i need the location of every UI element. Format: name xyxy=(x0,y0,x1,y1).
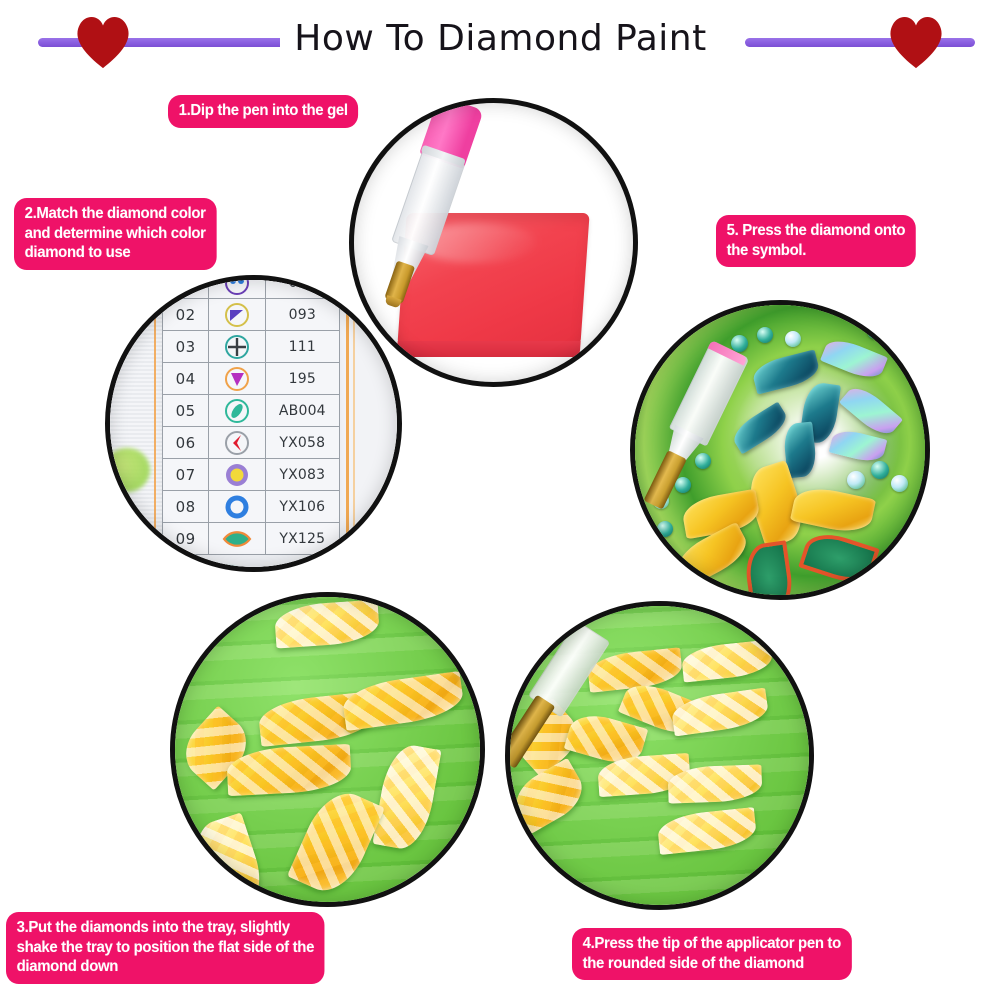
leaf-symbol xyxy=(209,524,264,554)
chart-code: YX083 xyxy=(265,459,339,491)
chart-code: YX058 xyxy=(265,427,339,459)
table-row: 09 YX125 xyxy=(163,523,340,555)
ring-symbol xyxy=(209,492,264,522)
page-title: How To Diamond Paint xyxy=(0,18,1001,59)
round-gem xyxy=(891,475,908,492)
chart-number: 05 xyxy=(163,395,209,427)
chart-number: 08 xyxy=(163,491,209,523)
step-5-caption-line-1: 5. Press the diamond onto xyxy=(727,221,906,241)
step-2-caption-line-2: and determine which color xyxy=(25,224,206,244)
step-4-caption-line-2: the rounded side of the diamond xyxy=(583,954,841,974)
table-row: 06 YX058 xyxy=(163,427,340,459)
table-row: 05 AB004 xyxy=(163,395,340,427)
chart-margin-line xyxy=(353,275,355,572)
chart-margin-line xyxy=(154,275,156,572)
chart-code: 195 xyxy=(265,363,339,395)
color-chart-table: 01 028 02 093 xyxy=(162,275,340,555)
color-chart-scene: 01 028 02 093 xyxy=(110,280,397,567)
filled-circle-symbol xyxy=(209,460,264,490)
chart-number: 06 xyxy=(163,427,209,459)
triangle-symbol-cell xyxy=(209,299,265,331)
round-gem xyxy=(785,331,801,347)
slash-oval-symbol xyxy=(209,396,264,426)
slash-oval-symbol-cell xyxy=(209,395,265,427)
arrow-left-symbol-cell xyxy=(209,427,265,459)
round-gem xyxy=(871,461,889,479)
step-5-photo xyxy=(630,300,930,600)
step-3-caption: 3.Put the diamonds into the tray, slight… xyxy=(6,912,325,984)
chart-code: YX125 xyxy=(265,523,339,555)
plus-symbol-cell xyxy=(209,331,265,363)
plus-symbol xyxy=(209,332,264,362)
step-3-caption-line-3: diamond down xyxy=(17,957,314,977)
triangle-down-symbol-cell xyxy=(209,363,265,395)
step-4-caption-line-1: 4.Press the tip of the applicator pen to xyxy=(583,934,841,954)
chart-number: 09 xyxy=(163,523,209,555)
table-row: 02 093 xyxy=(163,299,340,331)
page-title-text: How To Diamond Paint xyxy=(280,18,720,59)
chart-number: 04 xyxy=(163,363,209,395)
step-3-caption-line-2: shake the tray to position the flat side… xyxy=(17,938,314,958)
table-row: 01 028 xyxy=(163,275,340,299)
dots-symbol-cell xyxy=(209,275,265,299)
ring-symbol-cell xyxy=(209,491,265,523)
header: How To Diamond Paint xyxy=(0,0,1001,80)
step-3-caption-line-1: 3.Put the diamonds into the tray, slight… xyxy=(17,918,314,938)
chart-code: 111 xyxy=(265,331,339,363)
pen-tip xyxy=(644,450,687,510)
round-gem xyxy=(847,471,865,489)
step-4-caption: 4.Press the tip of the applicator pen to… xyxy=(572,928,852,980)
step-2-caption-line-1: 2.Match the diamond color xyxy=(25,204,206,224)
step-4-photo xyxy=(505,601,814,910)
step-1-caption: 1.Dip the pen into the gel xyxy=(168,95,358,128)
step-2-photo: 01 028 02 093 xyxy=(105,275,402,572)
step-5-caption: 5. Press the diamond onto the symbol. xyxy=(716,215,916,267)
dots-symbol xyxy=(209,275,264,298)
filled-circle-symbol-cell xyxy=(209,459,265,491)
pickup-scene xyxy=(510,606,809,905)
chart-margin-line xyxy=(346,275,349,572)
round-gem xyxy=(731,335,748,352)
step-1-caption-line-1: 1.Dip the pen into the gel xyxy=(179,101,348,121)
infographic-canvas: How To Diamond Paint 1.Dip the pen into … xyxy=(0,0,1001,1001)
canvas-paint-blob xyxy=(105,448,150,492)
step-2-caption-line-3: diamond to use xyxy=(25,243,206,263)
leaf-symbol-cell xyxy=(209,523,265,555)
tray-scene xyxy=(175,597,480,902)
chart-number: 07 xyxy=(163,459,209,491)
chart-code: 028 xyxy=(265,275,339,299)
triangle-down-symbol xyxy=(209,364,264,394)
round-gem xyxy=(757,327,773,343)
table-row: 07 YX083 xyxy=(163,459,340,491)
chart-number: 02 xyxy=(163,299,209,331)
table-row: 03 111 xyxy=(163,331,340,363)
step-5-caption-line-2: the symbol. xyxy=(727,241,906,261)
table-row: 04 195 xyxy=(163,363,340,395)
step-3-photo xyxy=(170,592,485,907)
round-gem xyxy=(867,323,883,339)
mandala-scene xyxy=(635,305,925,595)
chart-code: YX106 xyxy=(265,491,339,523)
table-row: 08 YX106 xyxy=(163,491,340,523)
chart-number: 01 xyxy=(163,275,209,299)
step-2-caption: 2.Match the diamond color and determine … xyxy=(14,198,216,270)
chart-code: AB004 xyxy=(265,395,339,427)
chart-number: 03 xyxy=(163,331,209,363)
chart-code: 093 xyxy=(265,299,339,331)
triangle-symbol xyxy=(209,300,264,330)
arrow-left-symbol xyxy=(209,428,264,458)
